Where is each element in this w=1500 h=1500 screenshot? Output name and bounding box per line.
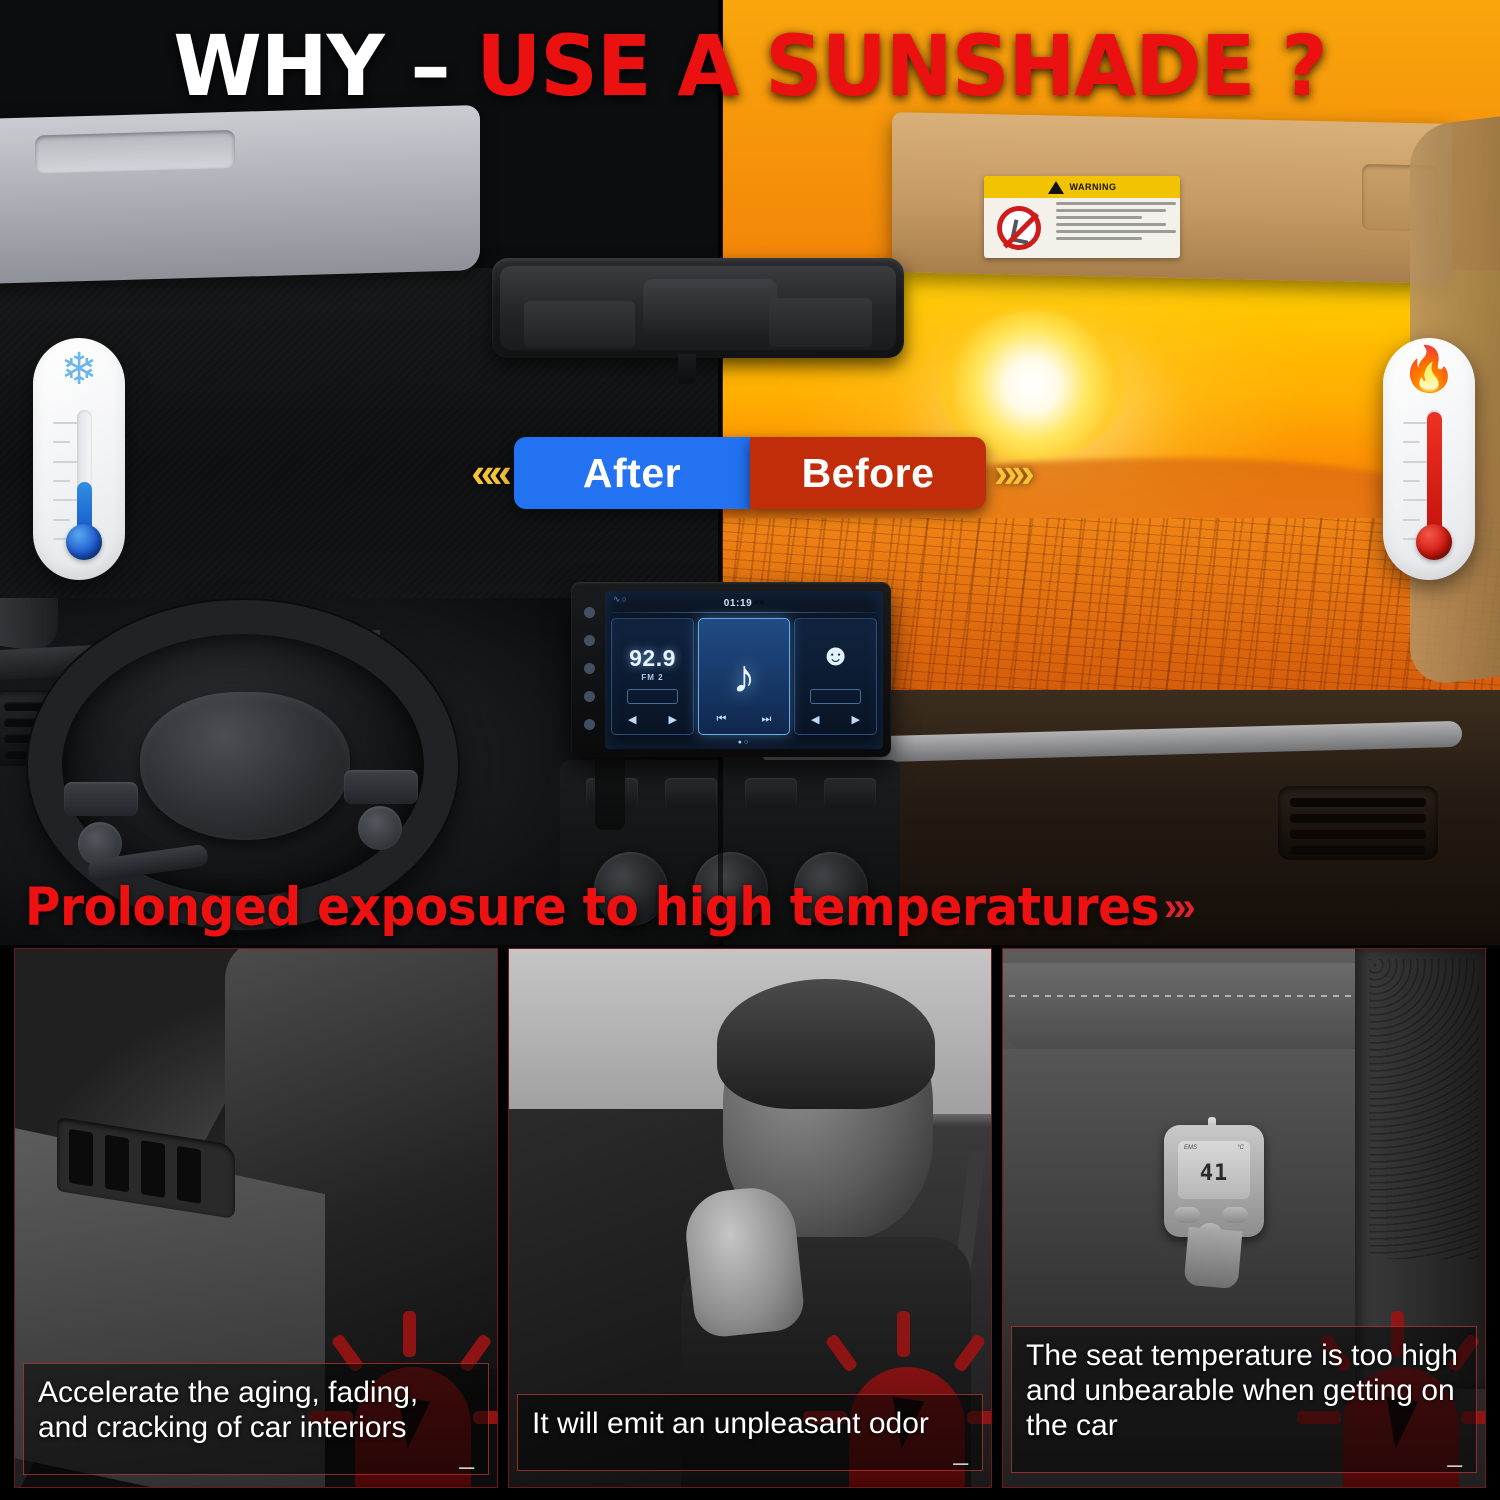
clock-ampm: PM — [755, 600, 764, 606]
music-note-icon: ♪ — [699, 653, 789, 699]
thermometer-button-left — [1174, 1207, 1200, 1223]
clock-time: 01:19 — [724, 598, 753, 609]
airbag-warning-label: WARNING — [984, 176, 1180, 258]
section-heading-band: Prolonged exposure to high temperatures … — [0, 862, 1500, 952]
status-bar: 01:19 PM — [605, 595, 883, 611]
before-after-hero: WARNING — [0, 0, 1500, 945]
card-caption-mark: _ — [532, 1446, 968, 1456]
previous-track-icon[interactable]: ⏮ — [717, 713, 727, 726]
head-unit-mount — [595, 756, 625, 830]
head-unit-side-buttons — [579, 598, 599, 738]
card-caption-text: Accelerate the aging, fading, and cracki… — [38, 1376, 474, 1446]
seek-down-icon[interactable]: ◀ — [628, 713, 636, 726]
after-badge[interactable]: After — [514, 437, 750, 509]
thermometer-lcd: EMS °C 41 — [1178, 1141, 1250, 1199]
radio-frequency: 92.9 — [612, 645, 693, 672]
warning-label-text-lines — [1054, 198, 1180, 258]
mirror-rear-seat-left — [524, 301, 635, 348]
warning-pictogram — [984, 198, 1054, 258]
contact-prev-icon[interactable]: ◀ — [811, 713, 819, 726]
infotainment-head-unit: ∿○ 01:19 PM 92.9 FM 2 ◀ ▶ — [571, 582, 891, 757]
mirror-glass — [500, 266, 896, 350]
title-dash: – — [410, 17, 449, 115]
contact-next-icon[interactable]: ▶ — [852, 713, 860, 726]
card-caption: Accelerate the aging, fading, and cracki… — [23, 1363, 489, 1475]
mirror-headrest — [643, 279, 778, 334]
consequence-cards: Accelerate the aging, fading, and cracki… — [0, 948, 1500, 1500]
phone-card[interactable]: ☻ ◀ ▶ — [794, 618, 877, 735]
warning-label-body — [984, 198, 1180, 258]
seek-up-icon[interactable]: ▶ — [669, 713, 677, 726]
card-caption-mark: _ — [1026, 1448, 1462, 1458]
mirror-rear-seat-right — [769, 298, 872, 347]
contact-person-icon: ☻ — [795, 641, 876, 671]
radio-band: FM 2 — [612, 673, 693, 682]
title-phrase-red: USE A SUNSHADE ? — [476, 17, 1326, 115]
radio-seek-controls[interactable]: ◀ ▶ — [612, 713, 693, 726]
before-badge[interactable]: Before — [750, 437, 986, 509]
right-dash-vent — [1278, 786, 1438, 860]
card-caption-text: The seat temperature is too high and unb… — [1026, 1339, 1462, 1443]
mirror-stem — [678, 354, 696, 384]
volume-button — [584, 663, 595, 674]
before-after-badges: «« After Before »» — [0, 437, 1500, 509]
menu-button — [584, 691, 595, 702]
steering-control-left — [64, 782, 138, 816]
thermometer-reading: 41 — [1178, 1161, 1250, 1186]
card-caption-mark: _ — [38, 1450, 474, 1460]
home-button — [584, 635, 595, 646]
chevron-left-icon: «« — [471, 452, 506, 494]
chevron-right-triple-icon: ››› — [1164, 885, 1192, 930]
media-card[interactable]: ♪ ⏮ ⏭ — [698, 618, 790, 735]
steering-wheel-airbag-hub — [140, 692, 350, 840]
flame-icon: 🔥 — [1383, 348, 1475, 392]
head-unit-screen[interactable]: ∿○ 01:19 PM 92.9 FM 2 ◀ ▶ — [605, 591, 883, 749]
no-child-seat-icon — [997, 206, 1041, 250]
infrared-thermometer: EMS °C 41 — [1158, 1125, 1268, 1285]
lcd-mode-label: EMS — [1184, 1145, 1197, 1151]
rearview-mirror — [492, 258, 904, 358]
page-title: WHY – USE A SUNSHADE ? — [0, 24, 1500, 108]
person-hair — [717, 979, 935, 1109]
thermometer-bulb — [66, 524, 102, 560]
climate-button — [745, 778, 797, 808]
lcd-unit-label: °C — [1237, 1145, 1244, 1151]
snowflake-icon: ❄ — [33, 348, 125, 392]
thermometer-grip — [1184, 1227, 1243, 1289]
climate-button — [824, 778, 876, 808]
back-button — [584, 719, 595, 730]
screen-card-row: 92.9 FM 2 ◀ ▶ ♪ ⏮ ⏭ — [611, 618, 877, 735]
consequence-card: EMS °C 41 The seat temperature is — [1002, 948, 1486, 1488]
climate-button-row — [586, 778, 876, 808]
card-caption-text: It will emit an unpleasant odor — [532, 1407, 968, 1442]
chevron-right-icon: »» — [994, 452, 1029, 494]
person-hand-fanning — [682, 1184, 807, 1340]
climate-button — [665, 778, 717, 808]
seat-perforation — [1369, 959, 1479, 1259]
contact-nav-controls[interactable]: ◀ ▶ — [795, 713, 876, 726]
consequence-card: Accelerate the aging, fading, and cracki… — [14, 948, 498, 1488]
radio-preset-pill[interactable] — [627, 689, 679, 704]
infographic-page: WARNING — [0, 0, 1500, 1500]
card-caption: It will emit an unpleasant odor _ — [517, 1394, 983, 1471]
warning-label-header: WARNING — [984, 176, 1180, 198]
warning-label-heading: WARNING — [1070, 182, 1117, 192]
steering-dpad-right — [358, 806, 402, 850]
status-divider — [611, 612, 877, 613]
power-button — [584, 607, 595, 618]
left-sun-visor — [0, 105, 480, 284]
media-transport-controls[interactable]: ⏮ ⏭ — [699, 713, 789, 726]
warning-triangle-icon — [1048, 181, 1064, 194]
radio-card[interactable]: 92.9 FM 2 ◀ ▶ — [611, 618, 694, 735]
thermometer-bulb — [1416, 524, 1452, 560]
visor-mirror-cover — [35, 130, 235, 174]
section-heading-text: Prolonged exposure to high temperatures — [25, 877, 1159, 938]
consequence-card: It will emit an unpleasant odor _ — [508, 948, 992, 1488]
contact-name-pill[interactable] — [810, 689, 862, 704]
page-indicator-dots: ●○ — [605, 739, 883, 746]
steering-control-right — [344, 770, 418, 804]
title-word-why: WHY — [173, 17, 383, 115]
card-caption: The seat temperature is too high and unb… — [1011, 1326, 1477, 1473]
thermometer-button-right — [1222, 1207, 1248, 1223]
next-track-icon[interactable]: ⏭ — [762, 713, 772, 726]
